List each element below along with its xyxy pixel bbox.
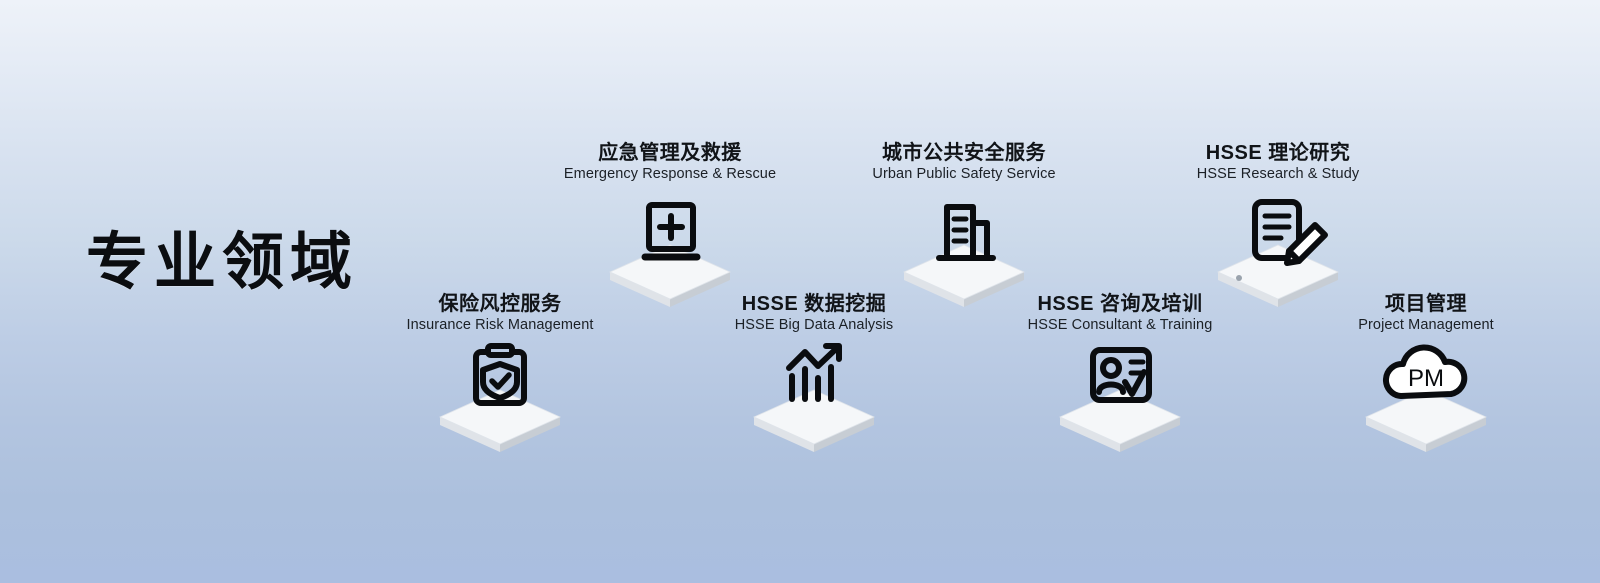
bar-chart-trend-icon [739, 342, 889, 452]
domain-label-en: Urban Public Safety Service [834, 167, 1094, 183]
domain-label-cn: HSSE 数据挖掘 [684, 294, 944, 315]
id-card-person-check-icon [1045, 342, 1195, 452]
pedestal-shape [754, 390, 874, 452]
domain-label-en: Emergency Response & Rescue [540, 167, 800, 183]
domain-label-en: HSSE Consultant & Training [990, 318, 1250, 334]
domain-card-hsse-big-data-analysis[interactable]: HSSE 数据挖掘 HSSE Big Data Analysis [684, 294, 944, 452]
professional-domains-banner: 专业领域 应急管理及救援 Emergency Response & Rescue [0, 0, 1600, 583]
city-buildings-icon [889, 197, 1039, 307]
domain-label-en: Project Management [1296, 318, 1556, 334]
glyph [1093, 350, 1149, 400]
domain-label-cn: 项目管理 [1296, 294, 1556, 315]
clipboard-shield-check-icon [425, 342, 575, 452]
domain-card-project-management[interactable]: 项目管理 Project Management PM [1296, 294, 1556, 452]
domain-card-hsse-research-study[interactable]: HSSE 理论研究 HSSE Research & Study [1148, 143, 1408, 307]
pedestal-shape [1366, 390, 1486, 452]
cloud-pm-icon: PM [1351, 342, 1501, 452]
domain-card-urban-public-safety-service[interactable]: 城市公共安全服务 Urban Public Safety Service [834, 143, 1094, 307]
domain-card-emergency-response-rescue[interactable]: 应急管理及救援 Emergency Response & Rescue [540, 143, 800, 307]
glyph: PM [1386, 347, 1464, 396]
first-aid-monitor-icon [595, 197, 745, 307]
document-pencil-icon [1203, 197, 1353, 307]
domain-label-cn: 保险风控服务 [370, 294, 630, 315]
pedestal-dot [1236, 275, 1242, 281]
domain-label-cn: 城市公共安全服务 [834, 143, 1094, 164]
domain-label-cn: HSSE 咨询及培训 [990, 294, 1250, 315]
domain-label-en: Insurance Risk Management [370, 318, 630, 334]
glyph [645, 205, 697, 257]
domain-card-hsse-consultant-training[interactable]: HSSE 咨询及培训 HSSE Consultant & Training [990, 294, 1250, 452]
domain-card-insurance-risk-management[interactable]: 保险风控服务 Insurance Risk Management [370, 294, 630, 452]
page-title: 专业领域 [86, 231, 358, 293]
domain-label-en: HSSE Big Data Analysis [684, 318, 944, 334]
domain-label-en: HSSE Research & Study [1148, 167, 1408, 183]
domain-label-cn: HSSE 理论研究 [1148, 143, 1408, 164]
cloud-pm-label: PM [1408, 365, 1444, 392]
domain-label-cn: 应急管理及救援 [540, 143, 800, 164]
